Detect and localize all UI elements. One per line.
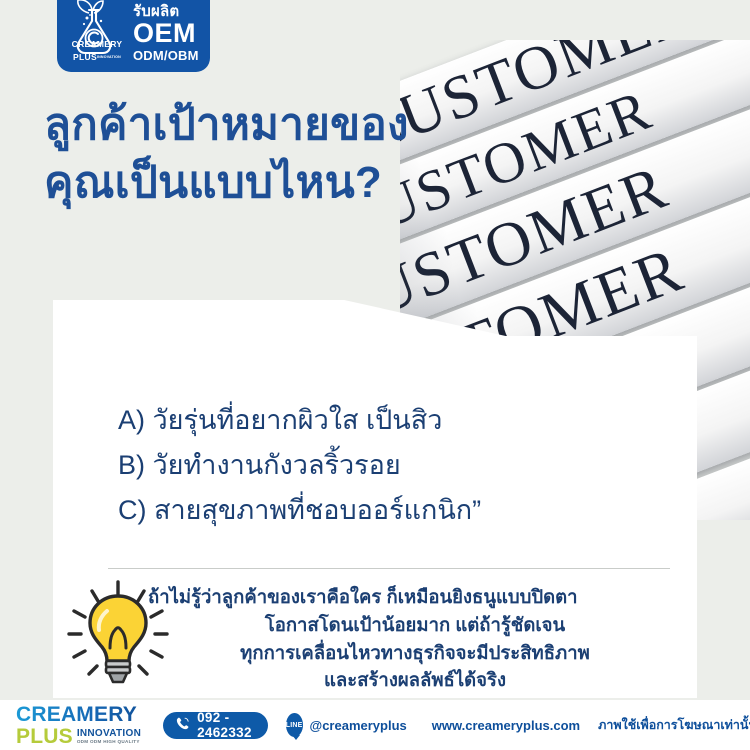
footer-brand-innovation: INNOVATION bbox=[77, 729, 141, 739]
badge-oem-label: OEM bbox=[133, 20, 199, 47]
poster-canvas: CUSTOMER CUSTOMER CUSTOMER CUSTOMER CUST… bbox=[0, 0, 750, 750]
footer-brand-tagline: ODM ODM HIGH QUALITY bbox=[77, 740, 141, 745]
phone-number: 092 - 2462332 bbox=[197, 710, 252, 740]
option-c-text: สายสุขภาพที่ชอบออร์แกนิก” bbox=[154, 495, 481, 525]
badge-logo-line3: INNOVATION bbox=[97, 56, 121, 60]
phone-button[interactable]: 092 - 2462332 bbox=[163, 712, 268, 739]
badge-logo-line2: PLUS bbox=[73, 52, 97, 62]
badge-text-group: รับผลิต OEM ODM/OBM bbox=[133, 4, 199, 63]
page-title-line2: คุณเป็นแบบไหน? bbox=[44, 154, 514, 212]
phone-icon bbox=[175, 716, 190, 734]
line-icon-label: LINE bbox=[286, 722, 303, 729]
footer-brand-row2: PLUS INNOVATION ODM ODM HIGH QUALITY bbox=[16, 726, 141, 747]
tagline-line1: ถ้าไม่รู้ว่าลูกค้าของเราคือใคร ก็เหมือนย… bbox=[148, 583, 680, 611]
divider bbox=[108, 568, 670, 569]
tagline-line3: ทุกการเคลื่อนไหวทางธุรกิจจะมีประสิทธิภาพ bbox=[150, 639, 680, 667]
footer-brand-innovation-group: INNOVATION ODM ODM HIGH QUALITY bbox=[77, 729, 141, 747]
option-a: A) วัยรุ่นที่อยากผิวใส เป็นสิว bbox=[118, 398, 588, 443]
website-link[interactable]: www.creameryplus.com bbox=[432, 718, 580, 733]
footer-bar: CREAMERY PLUS INNOVATION ODM ODM HIGH QU… bbox=[0, 700, 750, 750]
tagline-line4: และสร้างผลลัพธ์ได้จริง bbox=[150, 666, 680, 694]
options-list: A) วัยรุ่นที่อยากผิวใส เป็นสิว B) วัยทำง… bbox=[118, 398, 588, 532]
badge-logo-line1: CREAMERY bbox=[67, 40, 127, 49]
footer-logo: CREAMERY PLUS INNOVATION ODM ODM HIGH QU… bbox=[16, 704, 141, 747]
tagline-line2: โอกาสโดนเป้าน้อยมาก แต่ถ้ารู้ชัดเจน bbox=[150, 611, 680, 639]
option-c: C) สายสุขภาพที่ชอบออร์แกนิก” bbox=[118, 488, 588, 533]
footer-brand-creamery: CREAMERY bbox=[16, 704, 141, 725]
badge-thai-label: รับผลิต bbox=[133, 4, 199, 19]
oem-badge: CREAMERY PLUSINNOVATION รับผลิต OEM ODM/… bbox=[57, 0, 210, 72]
line-id[interactable]: @creameryplus bbox=[310, 718, 407, 733]
line-icon[interactable]: LINE bbox=[286, 713, 303, 737]
footer-brand-plus: PLUS bbox=[16, 726, 73, 747]
footer-disclaimer: ภาพใช้เพื่อการโฆษณาเท่านั้น bbox=[598, 715, 750, 735]
page-title: ลูกค้าเป้าหมายของ คุณเป็นแบบไหน? bbox=[44, 96, 514, 212]
page-title-line1: ลูกค้าเป้าหมายของ bbox=[44, 96, 514, 154]
option-c-key: C) bbox=[118, 495, 147, 525]
option-b-text: วัยทำงานกังวลริ้วรอย bbox=[153, 450, 401, 480]
badge-logo-caption: CREAMERY PLUSINNOVATION bbox=[67, 40, 127, 65]
option-a-text: วัยรุ่นที่อยากผิวใส เป็นสิว bbox=[153, 405, 443, 435]
option-b-key: B) bbox=[118, 450, 145, 480]
flask-leaf-icon: CREAMERY PLUSINNOVATION bbox=[67, 0, 127, 63]
tagline-block: ถ้าไม่รู้ว่าลูกค้าของเราคือใคร ก็เหมือนย… bbox=[150, 583, 680, 694]
badge-sub-label: ODM/OBM bbox=[133, 49, 199, 62]
option-b: B) วัยทำงานกังวลริ้วรอย bbox=[118, 443, 588, 488]
option-a-key: A) bbox=[118, 405, 145, 435]
